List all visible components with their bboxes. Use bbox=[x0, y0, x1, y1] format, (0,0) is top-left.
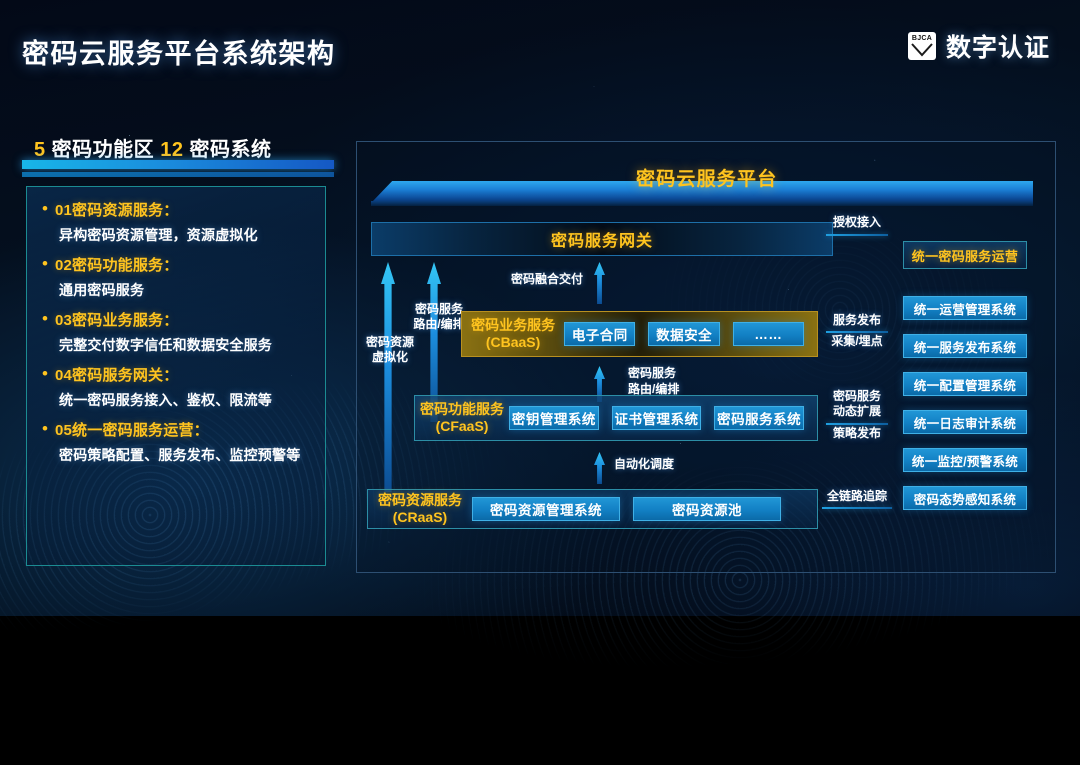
arrow-label-fusion: 密码融合交付 bbox=[511, 272, 583, 287]
page-title: 密码云服务平台系统架构 bbox=[22, 32, 336, 71]
list-item-desc: 统一密码服务接入、鉴权、限流等 bbox=[59, 390, 342, 410]
row-craas: 密码资源服务(CRaaS) 密码资源管理系统 密码资源池 bbox=[367, 489, 818, 529]
bjca-logo-icon: BJCA bbox=[908, 32, 936, 60]
list-item-title: 04密码服务网关： bbox=[55, 364, 179, 385]
bullet-dot-icon: • bbox=[42, 255, 48, 272]
ops-column-heading: 统一密码服务运营 bbox=[903, 241, 1027, 269]
row-cbaas: 密码业务服务(CBaaS) 电子合同 数据安全 …… bbox=[461, 311, 818, 357]
list-item-title: 03密码业务服务： bbox=[55, 309, 179, 330]
arrow-label-route-mid: 密码服务路由/编排 bbox=[628, 365, 708, 397]
ops-item-0[interactable]: 统一运营管理系统 bbox=[903, 296, 1027, 320]
gateway-label: 密码服务网关 bbox=[551, 227, 653, 251]
platform-title: 密码云服务平台 bbox=[636, 164, 777, 191]
ops-item-5[interactable]: 密码态势感知系统 bbox=[903, 486, 1027, 510]
ops-item-1[interactable]: 统一服务发布系统 bbox=[903, 334, 1027, 358]
chip-cfaas-1[interactable]: 证书管理系统 bbox=[612, 406, 702, 430]
bullet-dot-icon: • bbox=[42, 200, 48, 217]
connector-line-full-link-trace bbox=[822, 507, 892, 509]
left-heading: 5 密码功能区 12 密码系统 bbox=[34, 133, 272, 162]
list-item: • 02密码功能服务： 通用密码服务 bbox=[42, 254, 342, 300]
ops-item-3[interactable]: 统一日志审计系统 bbox=[903, 410, 1027, 434]
list-item-title: 02密码功能服务： bbox=[55, 254, 179, 275]
ops-item-4[interactable]: 统一监控/预警系统 bbox=[903, 448, 1027, 472]
list-item: • 03密码业务服务： 完整交付数字信任和数据安全服务 bbox=[42, 309, 342, 355]
connector-label-collect-tracking: 采集/埋点 bbox=[826, 334, 888, 349]
left-heading-underline-shadow bbox=[22, 172, 334, 177]
connector-line-auth-access bbox=[826, 234, 888, 236]
list-item-desc: 异构密码资源管理，资源虚拟化 bbox=[59, 225, 342, 245]
chip-cbaas-0[interactable]: 电子合同 bbox=[564, 322, 635, 346]
left-heading-count-systems: 12 bbox=[160, 139, 183, 161]
connector-line-service-publish bbox=[826, 331, 888, 333]
bullet-dot-icon: • bbox=[42, 420, 48, 437]
chip-craas-0[interactable]: 密码资源管理系统 bbox=[472, 497, 620, 521]
chip-cbaas-1[interactable]: 数据安全 bbox=[648, 322, 719, 346]
list-item: • 04密码服务网关： 统一密码服务接入、鉴权、限流等 bbox=[42, 364, 342, 410]
platform-slab-edge bbox=[371, 201, 1033, 206]
arrow-label-auto-schedule: 自动化调度 bbox=[614, 457, 674, 472]
list-item: • 05统一密码服务运营： 密码策略配置、服务发布、监控预警等 bbox=[42, 419, 342, 465]
chip-cbaas-2[interactable]: …… bbox=[733, 322, 804, 346]
list-item-desc: 完整交付数字信任和数据安全服务 bbox=[59, 335, 342, 355]
chip-cfaas-0[interactable]: 密钥管理系统 bbox=[509, 406, 599, 430]
connector-label-service-publish: 服务发布 bbox=[826, 313, 888, 328]
feature-list: • 01密码资源服务： 异构密码资源管理，资源虚拟化 • 02密码功能服务： 通… bbox=[42, 199, 342, 474]
connector-label-auth-access: 授权接入 bbox=[826, 215, 888, 230]
row-cfaas-label: 密码功能服务(CFaaS) bbox=[415, 401, 509, 435]
ops-item-2[interactable]: 统一配置管理系统 bbox=[903, 372, 1027, 396]
left-heading-label-zones: 密码功能区 bbox=[46, 139, 161, 161]
bullet-dot-icon: • bbox=[42, 365, 48, 382]
bullet-dot-icon: • bbox=[42, 310, 48, 327]
list-item-title: 05统一密码服务运营： bbox=[55, 419, 209, 440]
connector-label-policy-publish: 策略发布 bbox=[826, 426, 888, 441]
row-craas-label: 密码资源服务(CRaaS) bbox=[368, 492, 472, 526]
envelope-chevron-icon bbox=[911, 43, 933, 57]
list-item-desc: 通用密码服务 bbox=[59, 280, 342, 300]
arrow-label-virtualization: 密码资源虚拟化 bbox=[357, 335, 423, 365]
brand-logo: BJCA 数字认证 bbox=[908, 28, 1050, 64]
chip-craas-1[interactable]: 密码资源池 bbox=[633, 497, 781, 521]
connector-label-full-link-trace: 全链路追踪 bbox=[822, 489, 892, 504]
connector-line-dynamic-extension bbox=[826, 423, 888, 425]
gateway-bar: 密码服务网关 bbox=[371, 222, 833, 256]
chip-cfaas-2[interactable]: 密码服务系统 bbox=[714, 406, 804, 430]
bjca-logo-text: BJCA bbox=[912, 35, 932, 42]
connector-label-dynamic-extension: 密码服务动态扩展 bbox=[826, 389, 888, 419]
list-item-desc: 密码策略配置、服务发布、监控预警等 bbox=[59, 445, 342, 465]
row-cfaas: 密码功能服务(CFaaS) 密钥管理系统 证书管理系统 密码服务系统 bbox=[414, 395, 818, 441]
brand-name: 数字认证 bbox=[946, 28, 1050, 64]
left-heading-underline bbox=[22, 160, 334, 169]
left-heading-count-zones: 5 bbox=[34, 139, 46, 161]
row-cbaas-label: 密码业务服务(CBaaS) bbox=[462, 317, 564, 351]
list-item: • 01密码资源服务： 异构密码资源管理，资源虚拟化 bbox=[42, 199, 342, 245]
left-heading-label-systems: 密码系统 bbox=[184, 139, 272, 161]
list-item-title: 01密码资源服务： bbox=[55, 199, 179, 220]
